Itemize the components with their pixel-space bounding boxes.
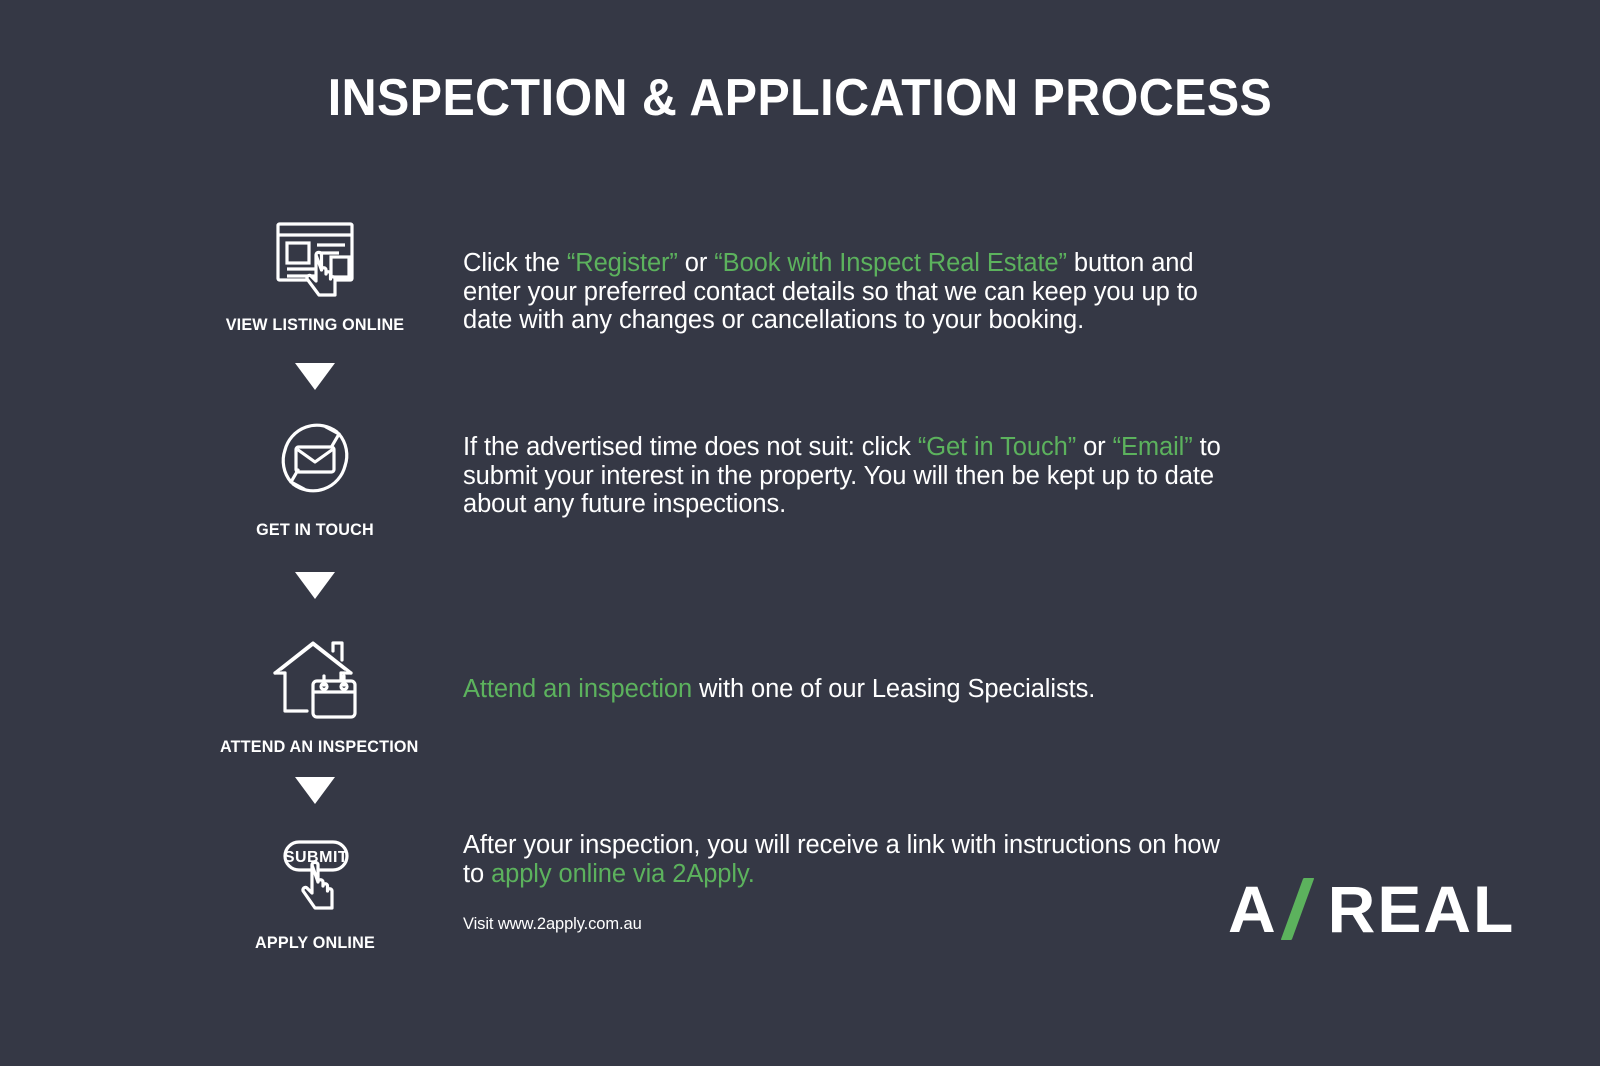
step-2-icon-column: GET IN TOUCH: [215, 410, 415, 540]
brand-logo: A REAL: [1228, 878, 1515, 940]
step-1-text: Click the “Register” or “Book with Inspe…: [463, 249, 1233, 335]
step-1-seg-1: “Register”: [567, 249, 678, 277]
step-1-label: VIEW LISTING ONLINE: [220, 315, 410, 335]
step-2-seg-3: “Email”: [1113, 433, 1193, 461]
page-title: INSPECTION & APPLICATION PROCESS: [56, 68, 1544, 128]
step-2-text: If the advertised time does not suit: cl…: [463, 433, 1233, 519]
step-2-seg-2: or: [1076, 433, 1112, 461]
logo-slash-icon: [1280, 878, 1326, 940]
envelope-refresh-icon: [215, 410, 415, 506]
down-triangle-shape: [295, 572, 335, 599]
house-calendar-icon: [215, 627, 415, 723]
step-2-seg-1: “Get in Touch”: [918, 433, 1076, 461]
step-3-seg-1: with one of our Leasing Specialists.: [692, 675, 1095, 703]
submit-button-pointer-icon: SUBMIT: [215, 823, 415, 919]
step-2-label: GET IN TOUCH: [220, 520, 410, 540]
step-2-seg-0: If the advertised time does not suit: cl…: [463, 433, 918, 461]
logo-letter-a: A: [1228, 876, 1278, 942]
listing-window-pointer-icon: [215, 205, 415, 301]
step-4-sub-note: Visit www.2apply.com.au: [463, 914, 1233, 934]
step-3-icon-column: ATTEND AN INSPECTION: [215, 627, 415, 757]
logo-word-real: REAL: [1328, 876, 1516, 942]
step-3-seg-0: Attend an inspection: [463, 675, 692, 703]
down-triangle-shape: [295, 777, 335, 804]
step-1-icon-column: VIEW LISTING ONLINE: [215, 205, 415, 335]
step-3-label: ATTEND AN INSPECTION: [220, 737, 410, 757]
step-1-seg-2: or: [678, 249, 714, 277]
down-triangle-shape: [295, 363, 335, 390]
step-3-text: Attend an inspection with one of our Lea…: [463, 675, 1233, 704]
down-triangle-icon-2: [215, 572, 415, 604]
step-1-seg-3: “Book with Inspect Real Estate”: [714, 249, 1067, 277]
step-1-seg-0: Click the: [463, 249, 567, 277]
step-4-icon-column: SUBMIT APPLY ONLINE: [215, 823, 415, 953]
step-4-text: After your inspection, you will receive …: [463, 831, 1233, 934]
down-triangle-icon-1: [215, 363, 415, 395]
step-4-seg-1: apply online via 2Apply.: [491, 860, 755, 888]
step-4-label: APPLY ONLINE: [220, 933, 410, 953]
down-triangle-icon-3: [215, 777, 415, 809]
